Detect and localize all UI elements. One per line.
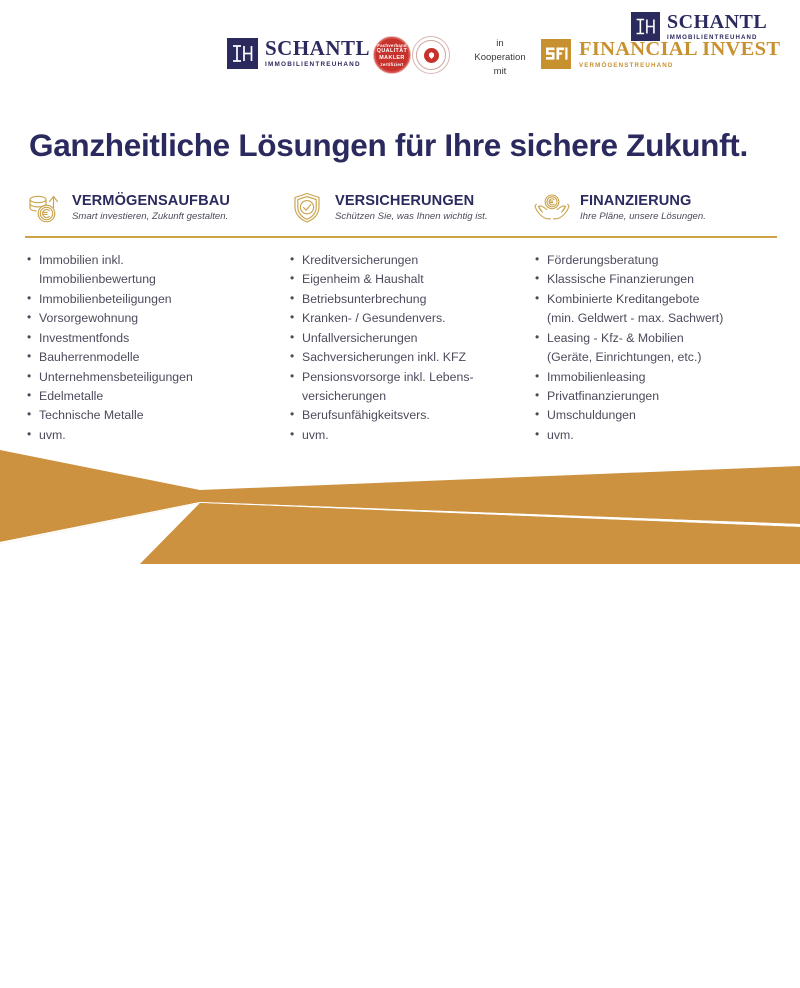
service-column-vermoegensaufbau: VERMÖGENSAUFBAU Smart investieren, Zukun… [25,186,288,230]
list-item: Immobilienleasing [547,368,777,387]
ith-monogram-icon [227,38,258,69]
list-item: Berufsunfähigkeitsvers. [302,406,533,425]
list-item: Sachversicherungen inkl. KFZ [302,348,533,367]
list-item: (min. Geldwert - max. Sachwert) [547,309,777,328]
list-item: Immobilienbeteiligungen [39,290,288,309]
office-graz-city: 8041 Graz [649,945,745,959]
list-column-vermoegensaufbau: Immobilien inkl.ImmobilienbewertungImmob… [25,251,288,445]
page-title: Ganzheitliche Lösungen für Ihre sichere … [29,127,748,164]
column-subtitle-vermoegensaufbau: Smart investieren, Zukunft gestalten. [72,212,230,223]
list-item: Pensionsvorsorge inkl. Lebens- [302,368,533,387]
logo-sfi-wordmark: FINANCIAL INVEST VERMÖGENSTREUHAND [579,39,780,69]
list-item: (Geräte, Einrichtungen, etc.) [547,348,777,367]
logo-schantl-secondary-subtitle: IMMOBILIENTREUHAND [667,35,767,41]
logo-schantl-secondary-wordmark: SCHANTL IMMOBILIENTREUHAND [667,12,767,41]
logo-sfi-financial-invest: FINANCIAL INVEST VERMÖGENSTREUHAND [541,39,780,69]
office-wien-block: Office Wien: Passauer Platz 6 1010 Wien … [522,917,635,988]
office-graz-name: Office Graz: [649,917,745,931]
office-wien-city: 1010 Wien [522,945,622,959]
list-item: Immobilien inkl. [39,251,288,270]
list-versicherungen: KreditversicherungenEigenheim & Haushalt… [288,251,533,445]
office-wien-email[interactable]: E: office@sfi-invest.com [522,974,622,988]
coins-euro-growth-icon [25,190,63,226]
logo-schantl-subtitle: IMMOBILIENTREUHAND [265,62,370,68]
logo-sfi-name: FINANCIAL INVEST [579,39,780,60]
list-item: Vorsorgewohnung [39,309,288,328]
column-header-vermoegensaufbau: VERMÖGENSAUFBAU Smart investieren, Zukun… [25,186,288,230]
shield-check-icon [288,190,326,226]
office-graz-phone[interactable]: T: +43 664 541 10 47 [649,959,745,973]
list-item: Edelmetalle [39,387,288,406]
office-graz-email[interactable]: E: office@schantl-ith.at [649,974,745,988]
service-column-versicherungen: VERSICHERUNGEN Schützen Sie, was Ihnen w… [288,186,533,230]
column-title-finanzierung: FINANZIERUNG [580,193,706,209]
list-item: Betriebsunterbrechung [302,290,533,309]
office-wien-phone[interactable]: T: +43 664 307 00 09 [522,959,622,973]
list-column-versicherungen: KreditversicherungenEigenheim & Haushalt… [288,251,533,445]
list-item: Unternehmensbeteiligungen [39,368,288,387]
list-item: Privatfinanzierungen [547,387,777,406]
cooperation-line3: mit [468,65,532,79]
ith-monogram-icon-secondary [631,12,660,41]
seal-white-crest-icon [424,48,439,63]
list-item: Kreditversicherungen [302,251,533,270]
list-item: Bauherrenmodelle [39,348,288,367]
list-vermoegensaufbau: Immobilien inkl.ImmobilienbewertungImmob… [25,251,288,445]
service-column-headers: VERMÖGENSAUFBAU Smart investieren, Zukun… [25,186,777,230]
logo-schantl-primary: SCHANTL IMMOBILIENTREUHAND [227,38,370,69]
seal-red-line2: QUALITÄT [377,48,407,55]
list-column-finanzierung: FörderungsberatungKlassische Finanzierun… [533,251,777,445]
column-header-versicherungen: VERSICHERUNGEN Schützen Sie, was Ihnen w… [288,186,533,230]
logo-sfi-subtitle: VERMÖGENSTREUHAND [579,63,780,69]
section-divider [25,236,777,238]
list-item: Klassische Finanzierungen [547,270,777,289]
list-item: versicherungen [302,387,533,406]
column-title-versicherungen: VERSICHERUNGEN [335,193,488,209]
logo-schantl-wordmark: SCHANTL IMMOBILIENTREUHAND [265,38,370,68]
list-item: Immobilienbewertung [39,270,288,289]
quality-seal-white-icon [412,36,450,74]
list-item: Unfallversicherungen [302,329,533,348]
column-header-finanzierung: FINANZIERUNG Ihre Pläne, unsere Lösungen… [533,186,777,230]
list-item: Kombinierte Kreditangebote [547,290,777,309]
column-title-vermoegensaufbau: VERMÖGENSAUFBAU [72,193,230,209]
office-wien-street: Passauer Platz 6 [522,931,622,945]
office-wien-name: Office Wien: [522,917,622,931]
hands-holding-coin-icon [533,190,571,226]
column-subtitle-versicherungen: Schützen Sie, was Ihnen wichtig ist. [335,212,488,223]
list-item: Leasing - Kfz- & Mobilien [547,329,777,348]
footer-contacts: Office Wien: Passauer Platz 6 1010 Wien … [522,917,744,988]
seal-red-line3: MAKLER [379,55,404,62]
footer-ribbon: Office Wien: Passauer Platz 6 1010 Wien … [0,440,800,564]
list-item: Förderungsberatung [547,251,777,270]
list-finanzierung: FörderungsberatungKlassische Finanzierun… [533,251,777,445]
list-item: Kranken- / Gesundenvers. [302,309,533,328]
cooperation-line1: in [468,37,532,51]
list-item: Umschuldungen [547,406,777,425]
logo-schantl-name: SCHANTL [265,38,370,59]
cooperation-line2: Kooperation [468,51,532,65]
sfi-monogram-icon [541,39,571,69]
list-item: Investmentfonds [39,329,288,348]
list-item: Eigenheim & Haushalt [302,270,533,289]
service-lists: Immobilien inkl.ImmobilienbewertungImmob… [25,251,777,445]
seal-white-ring [416,40,446,70]
seal-red-line4: zertifiziert [380,62,403,68]
logo-schantl-secondary: SCHANTL IMMOBILIENTREUHAND [631,12,767,41]
quality-seal-red-icon: Fachverband QUALITÄT MAKLER zertifiziert [373,36,411,74]
list-item: Technische Metalle [39,406,288,425]
column-subtitle-finanzierung: Ihre Pläne, unsere Lösungen. [580,212,706,223]
office-graz-street: Messendorferstr. 71a [649,931,745,945]
service-column-finanzierung: FINANZIERUNG Ihre Pläne, unsere Lösungen… [533,186,777,230]
office-graz-block: Office Graz: Messendorferstr. 71a 8041 G… [635,917,745,988]
logo-schantl-secondary-name: SCHANTL [667,12,767,32]
logo-bar: SCHANTL IMMOBILIENTREUHAND Fachverband Q… [0,0,800,112]
cooperation-note: in Kooperation mit [468,37,532,78]
